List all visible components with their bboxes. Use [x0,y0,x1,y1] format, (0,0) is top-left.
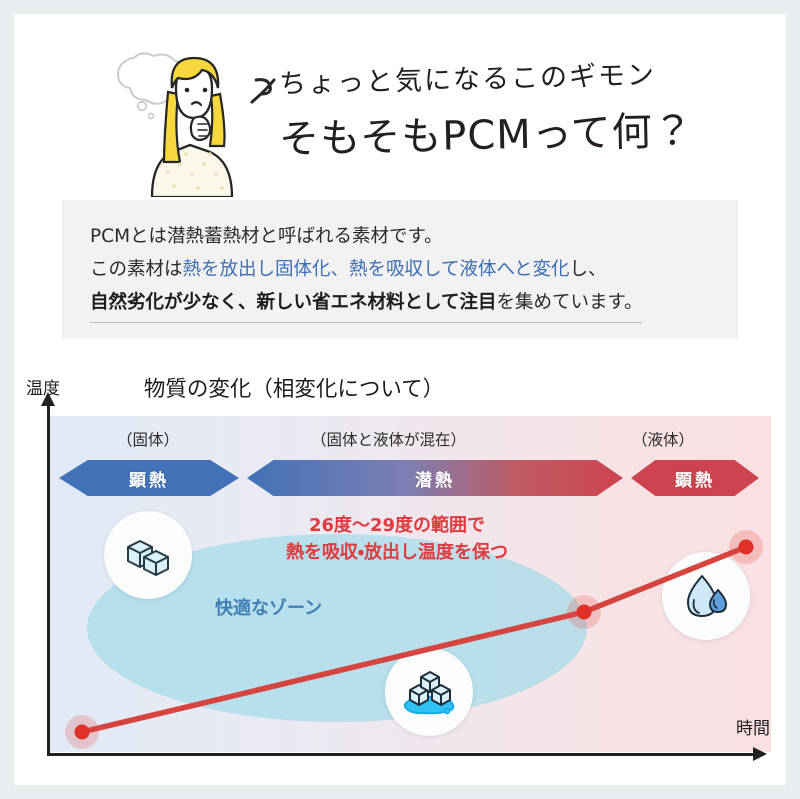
melting-ice-icon [400,663,458,721]
desc-line3-bold: 自然劣化が少なく、新しい省エネ材料として注目 [90,292,496,313]
desc-line2-suffix: し、 [570,259,607,280]
description-line-3: 自然劣化が少なく、新しい省エネ材料として注目を集めています。 [90,286,730,319]
hero-heading: そもそもPCMって何？ [278,97,749,165]
arrow-latent-heat: 潜熱 [247,460,623,496]
chart-plot-area: （固体） （固体と液体が混在） （液体） 顕熱 潜熱 顕熱 26度〜29度の範囲… [49,416,771,752]
zone-caption-mixed: （固体と液体が混在） [311,428,466,450]
ice-cubes-icon-bubble [104,511,192,599]
chart-title: 物質の変化（相変化について） [14,372,574,403]
zone-caption-liquid: （液体） [632,428,694,450]
description-line-1: PCMとは潜熱蓄熱材と呼ばれる素材です。 [90,220,730,253]
y-axis-line [47,404,50,756]
temperature-range-note: 26度〜29度の範囲で 熱を吸収・放出し温度を保つ [232,512,562,566]
arrow-sensible-heat-liquid: 顕熱 [631,460,759,496]
page-card: ちょっと気になるこのギモン そもそもPCMって何？ PCMとは潜熱蓄熱材と呼ばれ… [14,14,786,785]
hero-section: ちょっと気になるこのギモン そもそもPCMって何？ [14,14,786,194]
water-drop-icon-bubble [662,552,750,640]
desc-line3-tail: を集めています。 [496,292,642,313]
melting-ice-icon-bubble [385,648,473,736]
phase-change-chart: 温度 物質の変化（相変化について） （固体） （固体と液体が混在） （液体） 顕… [14,344,786,785]
comfort-zone-label: 快適なゾーン [215,594,322,620]
arrow-sensible-heat-solid: 顕熱 [59,460,239,496]
description-text: PCMとは潜熱蓄熱材と呼ばれる素材です。 この素材は熱を放出し固体化、熱を吸収し… [90,220,730,319]
zone-caption-solid: （固体） [117,428,179,450]
water-drop-icon [680,570,732,622]
x-axis-arrowhead-icon [753,747,767,761]
desc-line2-highlight: 熱を放出し固体化、熱を吸収して液体へと変化 [183,259,570,280]
temperature-range-note-line2: 熱を吸収・放出し温度を保つ [232,539,562,566]
hero-headings: ちょっと気になるこのギモン そもそもPCMって何？ [279,62,749,165]
desc-line2-prefix: この素材は [90,259,183,280]
description-line-2: この素材は熱を放出し固体化、熱を吸収して液体へと変化し、 [90,253,730,286]
x-axis-line [47,753,757,756]
description-divider [90,322,642,323]
ice-cubes-icon [122,529,174,581]
hero-subheading: ちょっと気になるこのギモン [279,51,750,101]
temperature-range-note-line1: 26度〜29度の範囲で [232,512,562,539]
y-axis-arrowhead-icon [41,392,55,406]
thinking-woman-illustration [94,32,274,197]
x-axis-label: 時間 [736,714,770,739]
description-box: PCMとは潜熱蓄熱材と呼ばれる素材です。 この素材は熱を放出し固体化、熱を吸収し… [62,200,738,338]
